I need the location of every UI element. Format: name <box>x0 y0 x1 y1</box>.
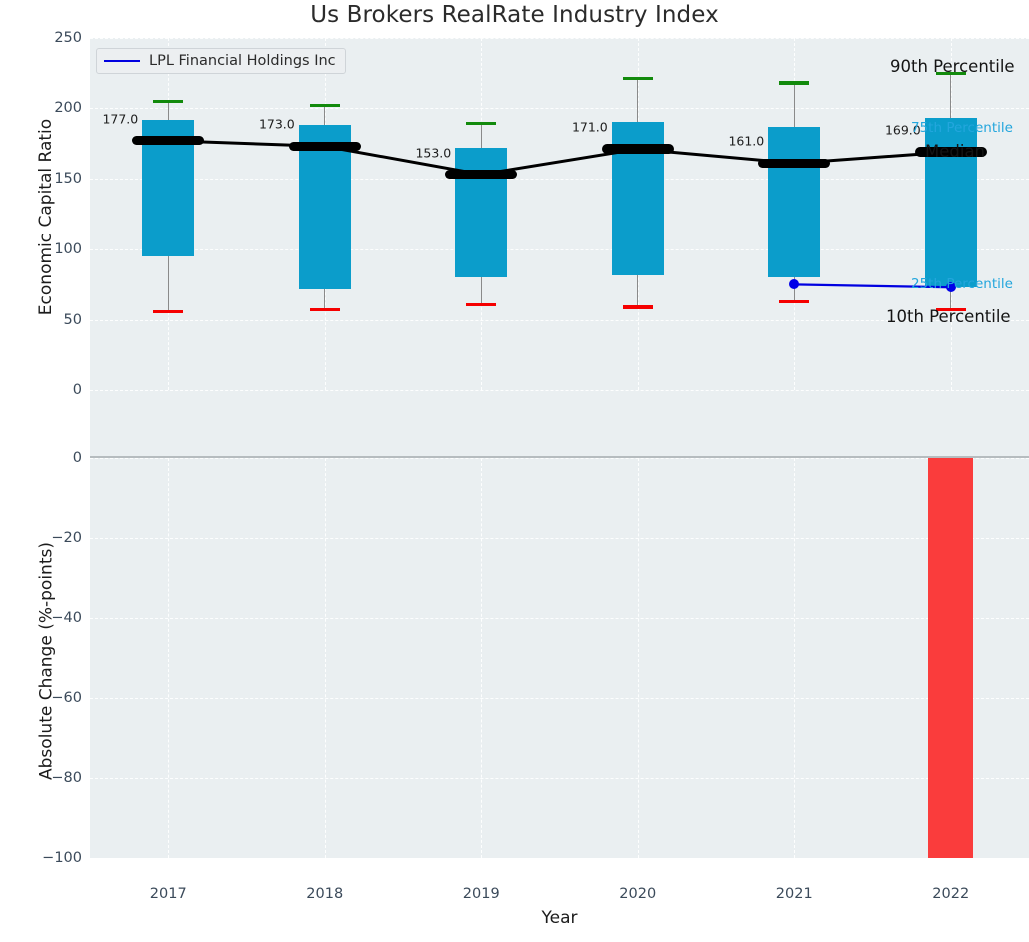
x-axis-label: Year <box>90 908 1029 928</box>
lpl-series-layer <box>0 0 1029 942</box>
annotation-median: Median <box>925 142 985 161</box>
annotation-25th-percentile: 25th Percentile <box>911 276 1013 292</box>
annotation-10th-percentile: 10th Percentile <box>886 307 1011 326</box>
chart-canvas: Us Brokers RealRate Industry Index 05010… <box>0 0 1029 942</box>
lpl-data-point-marker <box>789 279 799 289</box>
legend-line-swatch-lpl <box>104 60 140 62</box>
annotation-90th-percentile: 90th Percentile <box>890 57 1015 76</box>
legend-label-lpl: LPL Financial Holdings Inc <box>149 53 336 69</box>
y-axis-label-top: Economic Capital Ratio <box>36 67 56 367</box>
annotation-75th-percentile: 75th Percentile <box>911 120 1013 136</box>
y-axis-label-bottom: Absolute Change (%-points) <box>37 489 57 834</box>
legend[interactable]: LPL Financial Holdings Inc <box>96 48 346 74</box>
